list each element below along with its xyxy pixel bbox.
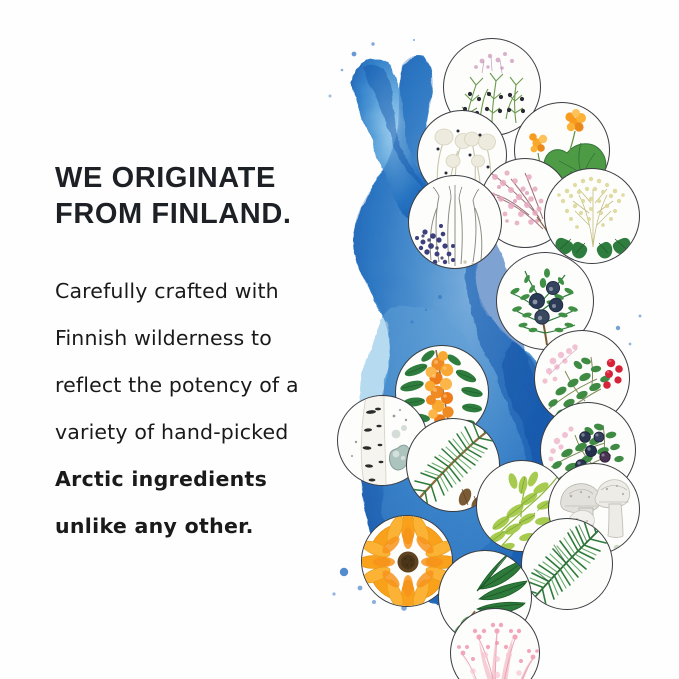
crowberry-sedge-illustration	[409, 176, 502, 269]
finland-map-illustration	[318, 10, 679, 679]
pink-grass-illustration	[451, 609, 540, 679]
botanical-circle-pink-grass[interactable]	[450, 608, 540, 679]
pine-needle-illustration	[522, 519, 613, 610]
page-title: WE ORIGINATE FROM FINLAND.	[55, 160, 355, 232]
body-line-6: unlike any other.	[55, 503, 355, 550]
meadowsweet-illustration	[545, 169, 640, 264]
body-line-2: Finnish wilderness to	[55, 315, 355, 362]
botanical-circle-pine-needle[interactable]	[521, 518, 613, 610]
text-panel: WE ORIGINATE FROM FINLAND. Carefully cra…	[55, 160, 355, 550]
body-copy: Carefully crafted with Finnish wildernes…	[55, 268, 355, 550]
body-line-1: Carefully crafted with	[55, 268, 355, 315]
body-line-3: reflect the potency of a	[55, 362, 355, 409]
body-line-4: variety of hand-picked	[55, 409, 355, 456]
body-line-5: Arctic ingredients	[55, 456, 355, 503]
botanical-circle-meadowsweet[interactable]	[544, 168, 640, 264]
botanical-circle-crowberry-sedge[interactable]	[408, 175, 502, 269]
promo-graphic: WE ORIGINATE FROM FINLAND. Carefully cra…	[0, 0, 679, 679]
